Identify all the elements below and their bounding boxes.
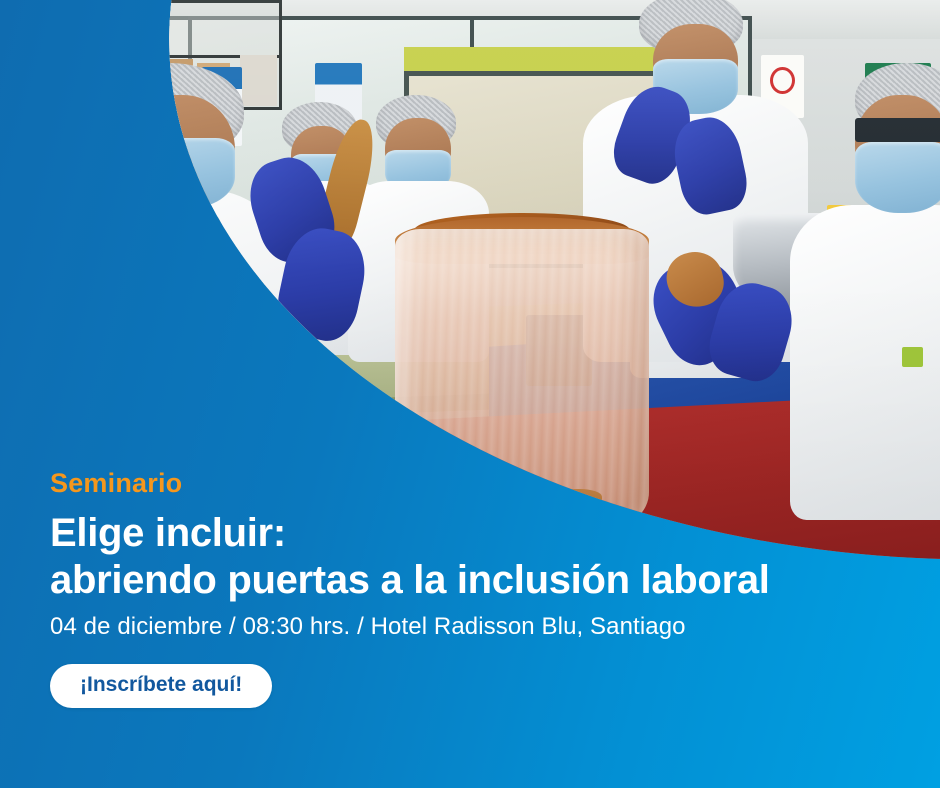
headline-line-2: abriendo puertas a la inclusión laboral: [50, 557, 910, 603]
photo-light-fixture-2: [0, 9, 94, 18]
photo-worker-mask: [855, 142, 940, 213]
photo-cookie: [141, 390, 182, 412]
photo-worker-glasses: [855, 118, 940, 142]
register-button[interactable]: ¡Inscríbete aquí!: [50, 664, 272, 708]
photo-storage-box: [240, 55, 278, 106]
photo-window-blind: [0, 24, 169, 245]
photo-cookie: [190, 398, 231, 420]
banner-content: Seminario Elige incluir: abriendo puerta…: [50, 469, 910, 708]
photo-cookie: [229, 375, 270, 397]
photo-work-mat: [0, 277, 263, 370]
banner-headline: Elige incluir: abriendo puertas a la inc…: [50, 510, 910, 603]
photo-counter: [0, 278, 320, 494]
photo-cookie: [132, 359, 173, 381]
event-type-label: Seminario: [50, 469, 910, 499]
promo-banner: Seminario Elige incluir: abriendo puerta…: [0, 0, 940, 788]
event-details: 04 de diciembre / 08:30 hrs. / Hotel Rad…: [50, 613, 910, 642]
photo-label-tag: [338, 400, 380, 422]
headline-line-1: Elige incluir:: [50, 511, 286, 555]
photo-cookie-tray: [122, 348, 310, 424]
photo-worker-mask: [127, 138, 235, 209]
photo-cookie: [180, 366, 221, 388]
photo-coat-logo: [902, 347, 923, 367]
